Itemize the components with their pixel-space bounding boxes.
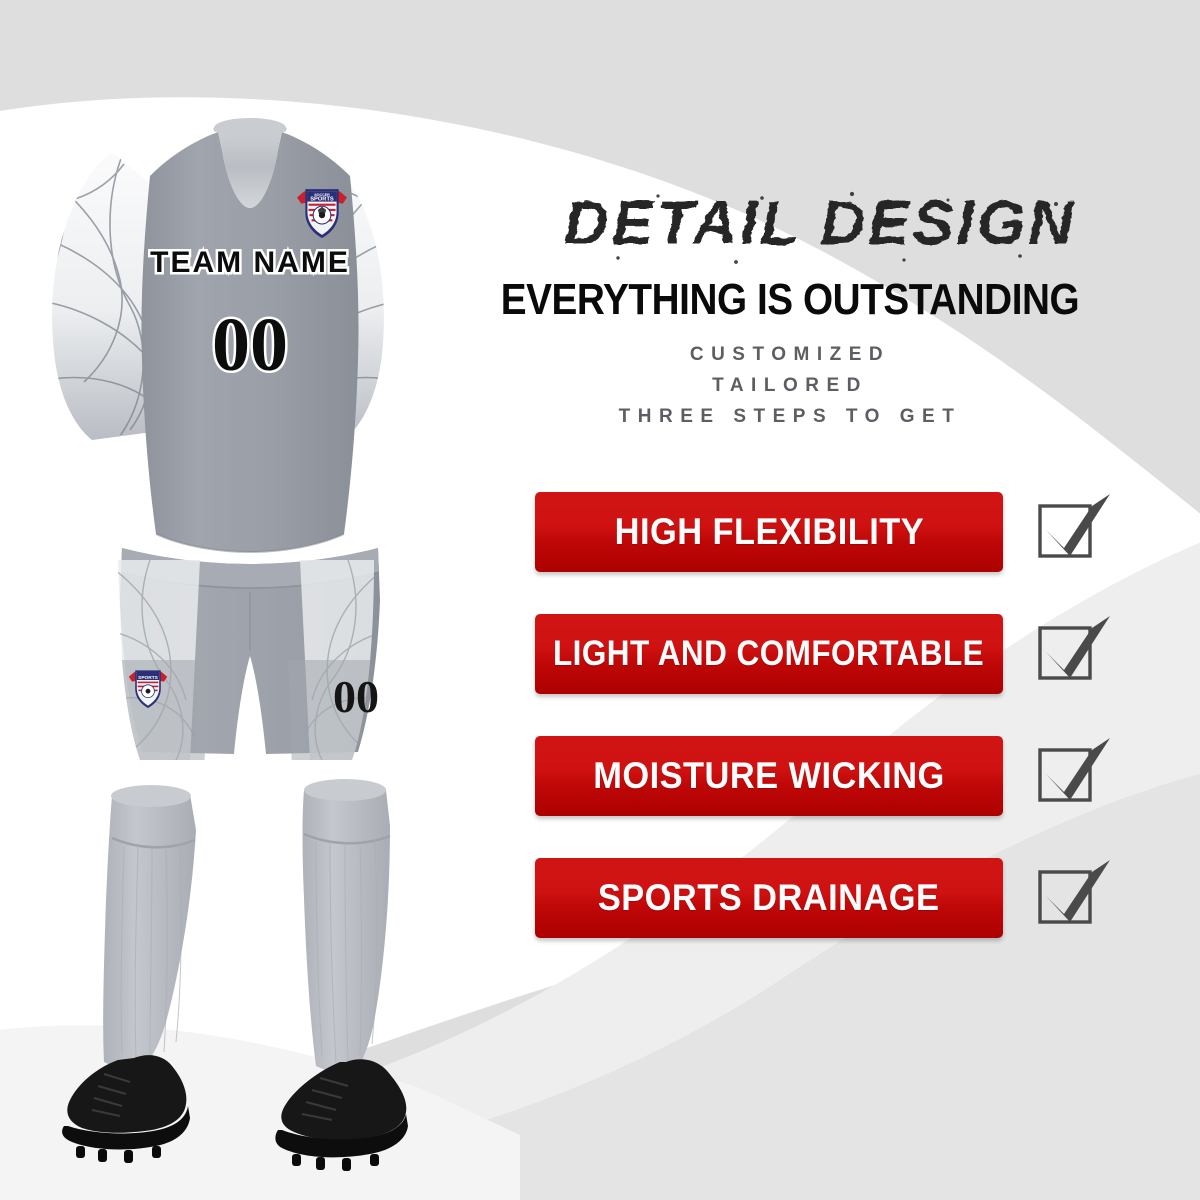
tagline-1: CUSTOMIZED [440, 340, 1140, 371]
info-panel: DETAIL DESIGN EVERYTHING IS OUTSTANDING … [440, 0, 1200, 1200]
checkbox-checked-icon[interactable] [1030, 854, 1116, 940]
socks [103, 779, 390, 1080]
tagline-2: TAILORED [440, 371, 1140, 402]
product-banner: SOCCER SPORTS TEAM NAME 00 [0, 0, 1200, 1200]
feature-label: MOISTURE WICKING [593, 755, 945, 797]
feature-list: HIGH FLEXIBILITY LIGHT AND COMFORTABLE [440, 492, 1200, 980]
page-title-text: DETAIL DESIGN [564, 189, 1076, 258]
product-kit-illustration: SOCCER SPORTS TEAM NAME 00 [0, 0, 500, 1200]
feature-badge-high-flexibility[interactable]: HIGH FLEXIBILITY [535, 492, 1003, 572]
feature-badge-moisture-wicking[interactable]: MOISTURE WICKING [535, 736, 1003, 816]
feature-badge-sports-drainage[interactable]: SPORTS DRAINAGE [535, 858, 1003, 938]
feature-label: HIGH FLEXIBILITY [614, 511, 923, 553]
shorts [104, 548, 394, 770]
feature-row: MOISTURE WICKING [440, 736, 1200, 816]
crest-text: SPORTS [310, 197, 334, 203]
feature-row: HIGH FLEXIBILITY [440, 492, 1200, 572]
feature-label: SPORTS DRAINAGE [598, 877, 940, 919]
shorts-crest-text: SPORTS [138, 675, 159, 681]
jersey-team-name: TEAM NAME [150, 246, 350, 279]
tagline-3: THREE STEPS TO GET [440, 402, 1140, 433]
feature-label: LIGHT AND COMFORTABLE [553, 634, 984, 674]
feature-row: LIGHT AND COMFORTABLE [440, 614, 1200, 694]
feature-badge-light-and-comfortable[interactable]: LIGHT AND COMFORTABLE [535, 614, 1003, 694]
tagline-group: CUSTOMIZED TAILORED THREE STEPS TO GET [440, 340, 1140, 432]
checkbox-checked-icon[interactable] [1030, 488, 1116, 574]
checkbox-checked-icon[interactable] [1030, 732, 1116, 818]
page-subtitle: EVERYTHING IS OUTSTANDING [482, 278, 1098, 323]
jersey-number: 00 [212, 303, 288, 387]
cleats [62, 1055, 408, 1171]
shorts-number: 00 [333, 671, 379, 722]
feature-row: SPORTS DRAINAGE [440, 858, 1200, 938]
page-title: DETAIL DESIGN [500, 178, 1140, 270]
checkbox-checked-icon[interactable] [1030, 610, 1116, 696]
